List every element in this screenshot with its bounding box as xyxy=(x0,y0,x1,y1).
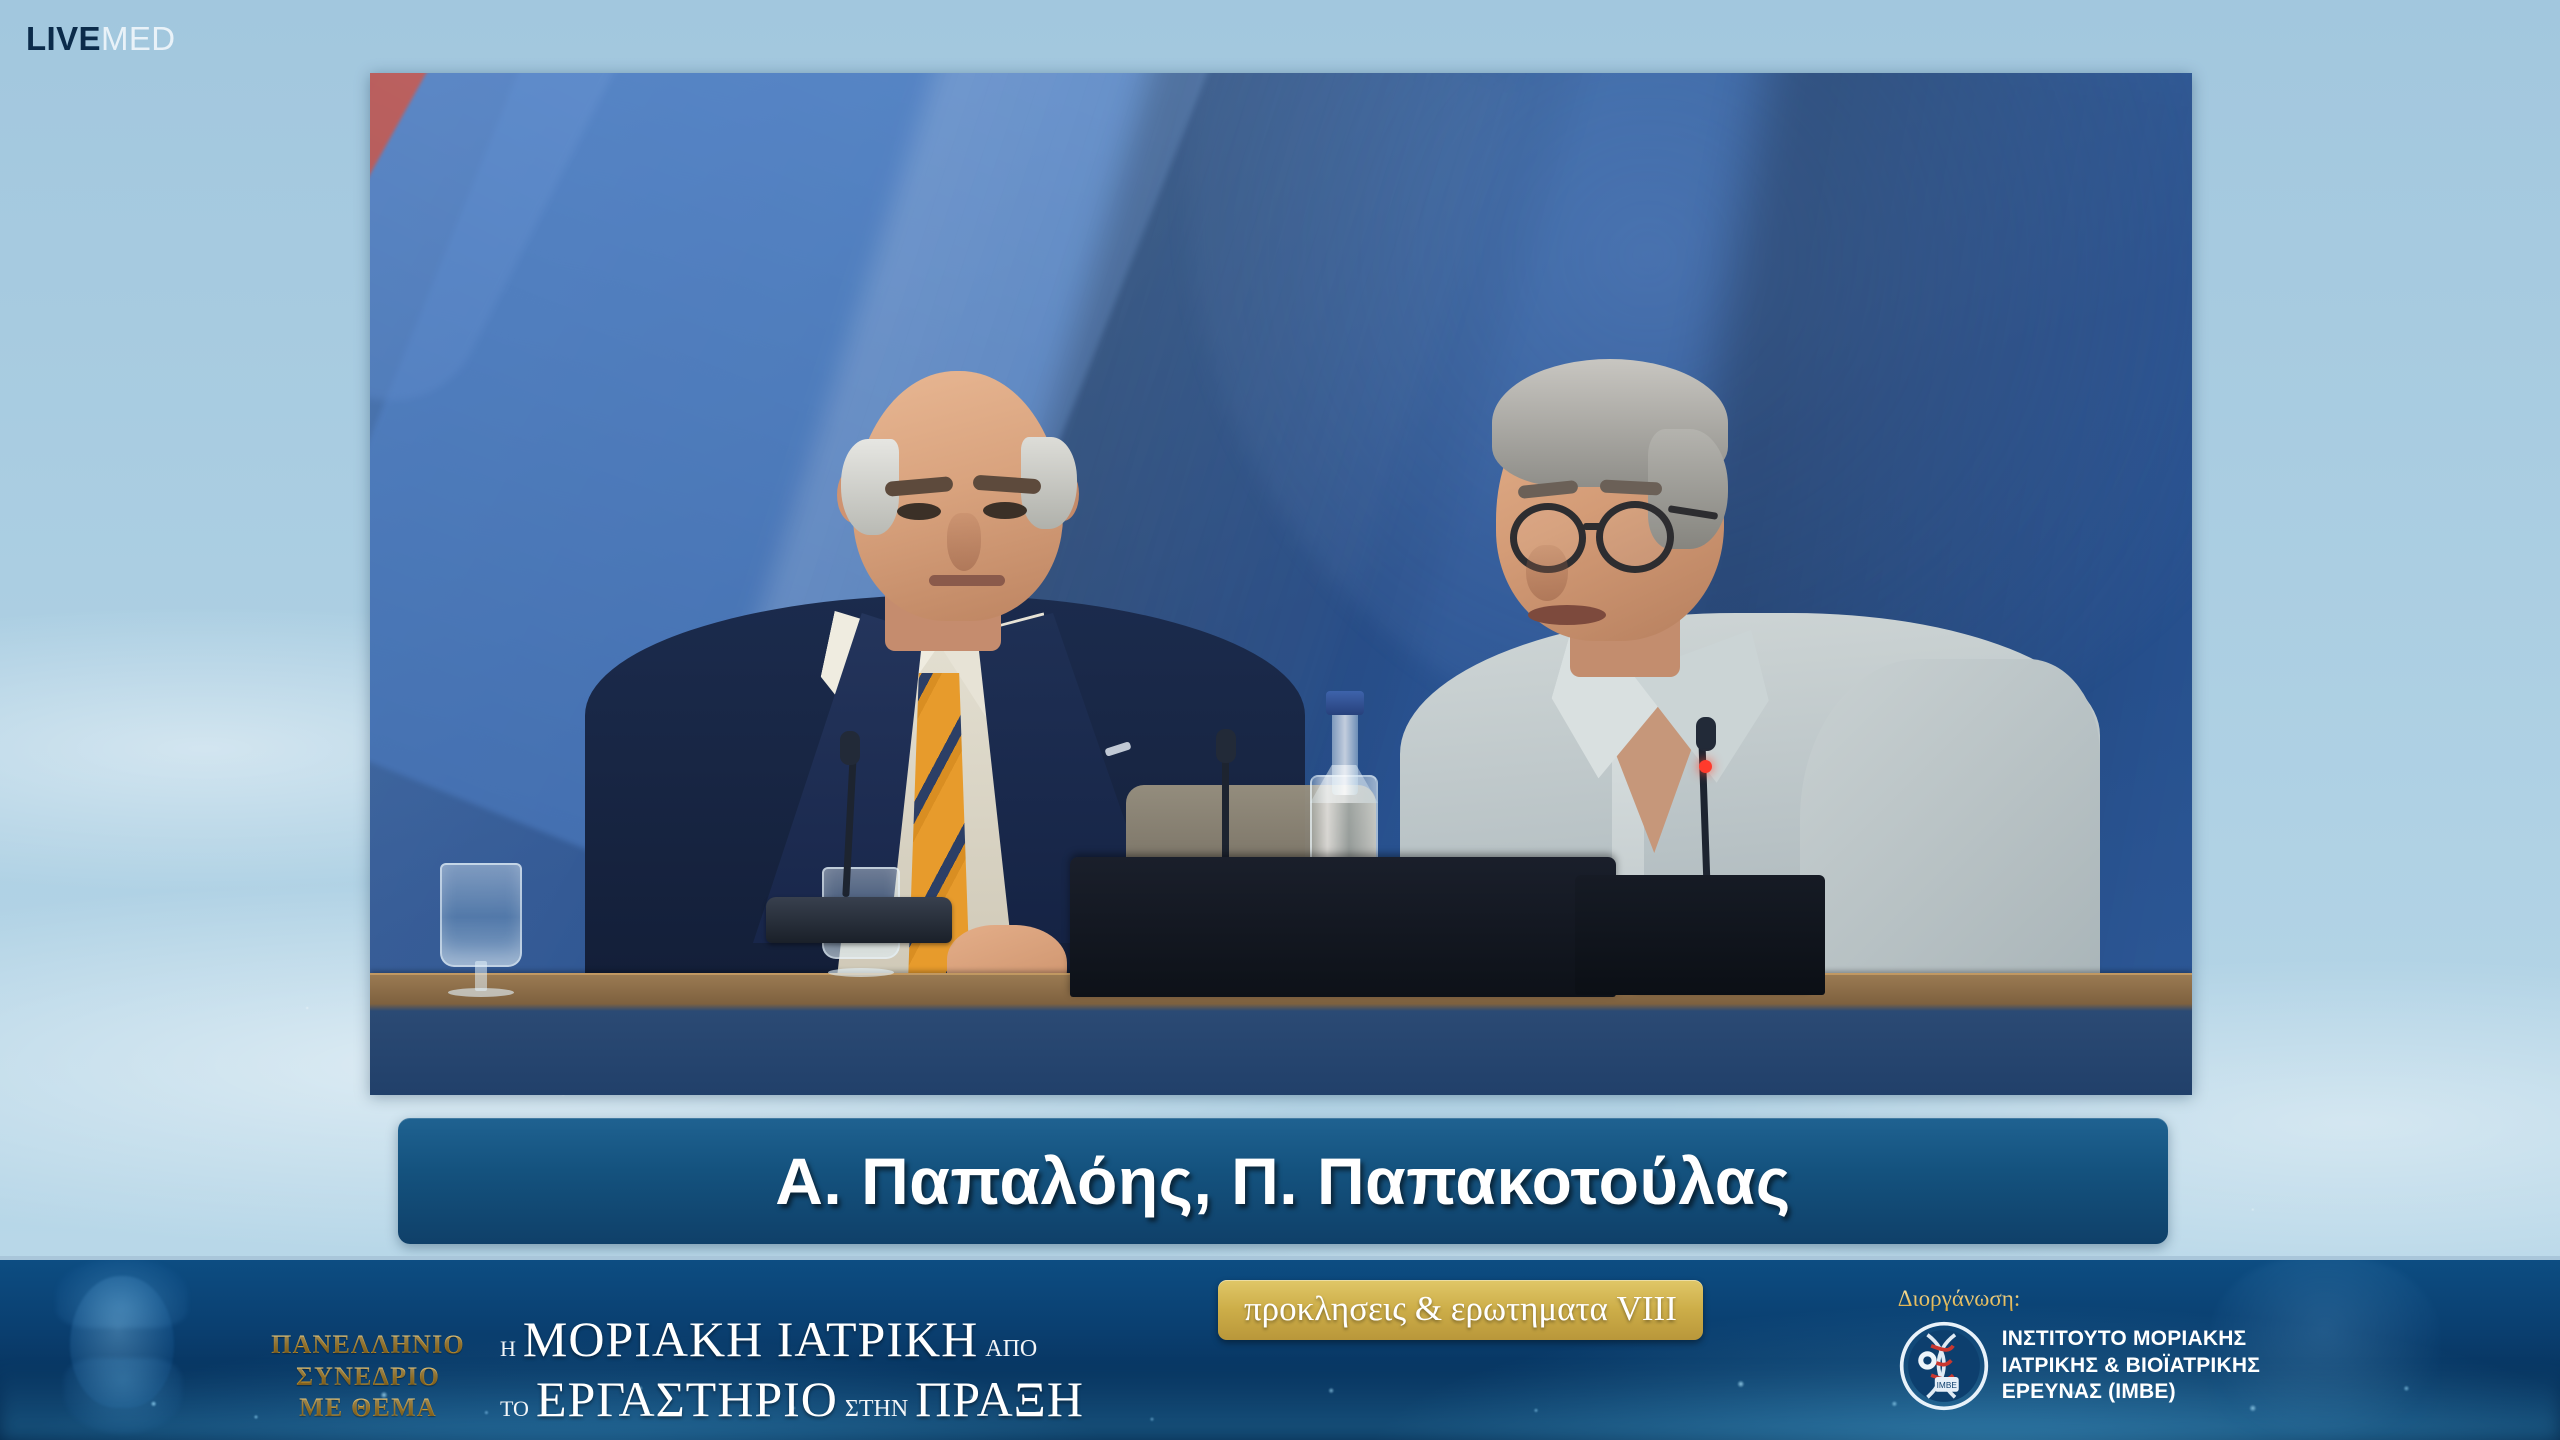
theme-main-2: ΕΡΓΑΣΤΗΡΙΟ xyxy=(536,1370,838,1428)
left-speaker-eye-left xyxy=(897,503,941,520)
organizer-block: Διοργάνωση: IMBE ΙΝΣΤΙΤΟΥΤΟ ΜΟΡΙΑΚΗΣ ΙΑΤ… xyxy=(1898,1286,2260,1412)
theme-mid-2: ΣΤΗΝ xyxy=(845,1396,908,1423)
congress-theme-line-2: ΤΟ ΕΡΓΑΣΤΗΡΙΟ ΣΤΗΝ ΠΡΑΞΗ xyxy=(500,1370,1084,1428)
organizer-row: IMBE ΙΝΣΤΙΤΟΥΤΟ ΜΟΡΙΑΚΗΣ ΙΑΤΡΙΚΗΣ & ΒΙΟΪ… xyxy=(1898,1320,2260,1412)
challenges-ribbon-text: προκλησεις & ερωτηματα VIII xyxy=(1244,1289,1677,1328)
laptop-screen-back xyxy=(1070,857,1616,997)
water-glass-left-foot xyxy=(448,988,514,997)
left-speaker-mouth xyxy=(929,575,1005,586)
bust-beard xyxy=(64,1358,182,1434)
speaker-name-banner: Α. Παπαλόης, Π. Παπακοτούλας xyxy=(398,1118,2168,1244)
logo-med-text: MED xyxy=(101,20,176,57)
microphone-head-center xyxy=(1216,729,1236,763)
organizer-line-3: ΕΡΕΥΝΑΣ (IMBE) xyxy=(2002,1379,2260,1405)
theme-main-1: ΜΟΡΙΑΚΗ ΙΑΤΡΙΚΗ xyxy=(523,1310,978,1368)
livemed-logo: LIVEMED xyxy=(26,22,176,55)
left-speaker-eye-right xyxy=(983,502,1027,519)
right-speaker-mouth xyxy=(1528,605,1606,625)
water-glass-left xyxy=(440,863,522,967)
conference-footer: ΠΑΝΕΛΛΗΝΙΟ ΣΥΝΕΔΡΙΟ ΜΕ ΘΕΜΑ Η ΜΟΡΙΑΚΗ ΙΑ… xyxy=(0,1256,2560,1440)
video-player[interactable] xyxy=(370,73,2192,1095)
water-glass-left-stem xyxy=(475,961,487,991)
water-glass-center-left-foot xyxy=(828,968,894,977)
left-speaker-nose xyxy=(947,513,981,571)
laptop-secondary xyxy=(1575,875,1825,995)
right-speaker-nose xyxy=(1526,545,1568,601)
hippocrates-bust-icon xyxy=(38,1256,218,1434)
congress-title-block: ΠΑΝΕΛΛΗΝΙΟ ΣΥΝΕΔΡΙΟ ΜΕ ΘΕΜΑ xyxy=(248,1329,488,1424)
organizer-name-lines: ΙΝΣΤΙΤΟΥΤΟ ΜΟΡΙΑΚΗΣ ΙΑΤΡΙΚΗΣ & ΒΙΟΪΑΤΡΙΚ… xyxy=(2002,1326,2260,1405)
imbe-dna-logo-icon: IMBE xyxy=(1898,1320,1990,1412)
theme-main-3: ΠΡΑΞΗ xyxy=(915,1370,1084,1428)
organizer-line-2: ΙΑΤΡΙΚΗΣ & ΒΙΟΪΑΤΡΙΚΗΣ xyxy=(2002,1353,2260,1379)
organizer-line-1: ΙΝΣΤΙΤΟΥΤΟ ΜΟΡΙΑΚΗΣ xyxy=(2002,1326,2260,1352)
right-speaker-eyeglass-right xyxy=(1596,501,1674,573)
theme-article-1: Η xyxy=(500,1336,516,1362)
svg-text:IMBE: IMBE xyxy=(1936,1381,1957,1390)
water-bottle-neck xyxy=(1332,711,1358,795)
congress-line-3: ΜΕ ΘΕΜΑ xyxy=(248,1392,488,1424)
microphone-head-right xyxy=(1696,717,1716,751)
logo-live-text: LIVE xyxy=(26,20,101,57)
theme-tail-1: ΑΠΟ xyxy=(985,1336,1037,1363)
congress-theme-line-1: Η ΜΟΡΙΑΚΗ ΙΑΤΡΙΚΗ ΑΠΟ xyxy=(500,1310,1084,1368)
speaker-names: Α. Παπαλόης, Π. Παπακοτούλας xyxy=(775,1143,1790,1219)
congress-line-2: ΣΥΝΕΔΡΙΟ xyxy=(248,1361,488,1393)
theme-article-2: ΤΟ xyxy=(500,1396,529,1422)
right-speaker-eyeglass-bridge xyxy=(1583,523,1603,530)
congress-line-1: ΠΑΝΕΛΛΗΝΙΟ xyxy=(248,1329,488,1361)
congress-theme-block: Η ΜΟΡΙΑΚΗ ΙΑΤΡΙΚΗ ΑΠΟ ΤΟ ΕΡΓΑΣΤΗΡΙΟ ΣΤΗΝ… xyxy=(500,1308,1084,1430)
microphone-led-indicator xyxy=(1699,760,1712,773)
organizer-label: Διοργάνωση: xyxy=(1898,1286,2260,1312)
microphone-head-left xyxy=(840,731,860,765)
water-bottle-cap xyxy=(1326,691,1364,715)
video-stage xyxy=(370,73,2192,1095)
microphone-base-left xyxy=(766,897,952,943)
challenges-ribbon: προκλησεις & ερωτηματα VIII xyxy=(1218,1280,1703,1340)
